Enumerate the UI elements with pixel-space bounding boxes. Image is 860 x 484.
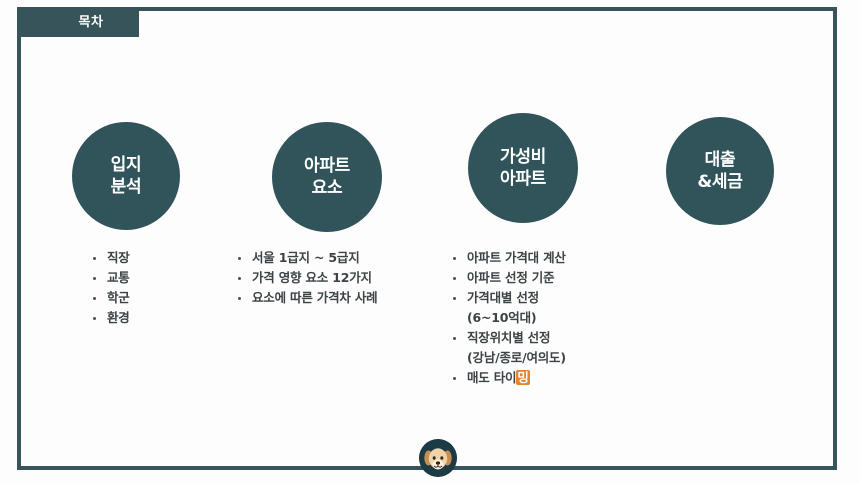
list-item: 요소에 따른 가격차 사례 [234,288,377,308]
header-tab-label: 목차 [79,16,104,29]
list-item: 학군 [89,288,130,308]
list-item-text: 매도 타이 [467,370,516,385]
dog-avatar-icon [419,439,457,477]
list-item: 교통 [89,268,130,288]
topic-circle-1-line-2: 분석 [111,176,142,198]
topic-circle-4[interactable]: 대출 &세금 [666,117,774,225]
slide-frame [17,7,837,470]
list-item-continuation: (강남/종로/여의도) [449,348,566,368]
bullet-list-2: 서울 1급지 ~ 5급지 가격 영향 요소 12가지 요소에 따른 가격차 사례 [234,248,377,308]
topic-circle-3[interactable]: 가성비 아파트 [468,113,578,223]
topic-circle-2-line-2: 요소 [312,177,343,199]
list-item: 아파트 가격대 계산 [449,248,566,268]
topic-circle-4-line-2: &세금 [697,171,742,193]
topic-circle-3-line-2: 아파트 [500,168,546,190]
list-item: 가격대별 선정 [449,288,566,308]
slide-canvas: 목차 입지 분석 직장 교통 학군 환경 아파트 요소 서울 1급지 ~ 5급지… [0,0,860,484]
list-item: 직장위치별 선정 [449,328,566,348]
topic-circle-3-line-1: 가성비 [500,146,546,168]
list-item-continuation: (6~10억대) [449,308,566,328]
list-item: 직장 [89,248,130,268]
topic-circle-1[interactable]: 입지 분석 [72,122,180,230]
highlighted-character: 밍 [516,370,529,385]
bullet-list-1: 직장 교통 학군 환경 [89,248,130,328]
topic-circle-2-line-1: 아파트 [304,155,350,177]
header-tab: 목차 [17,7,139,37]
topic-circle-2[interactable]: 아파트 요소 [272,122,382,232]
bullet-list-3: 아파트 가격대 계산 아파트 선정 기준 가격대별 선정 (6~10억대) 직장… [449,248,566,388]
topic-circle-1-line-1: 입지 [111,154,142,176]
list-item: 아파트 선정 기준 [449,268,566,288]
list-item: 환경 [89,308,130,328]
topic-circle-4-line-1: 대출 [705,149,736,171]
list-item: 가격 영향 요소 12가지 [234,268,377,288]
list-item: 서울 1급지 ~ 5급지 [234,248,377,268]
list-item-selling-timing: 매도 타이밍 [449,368,566,388]
